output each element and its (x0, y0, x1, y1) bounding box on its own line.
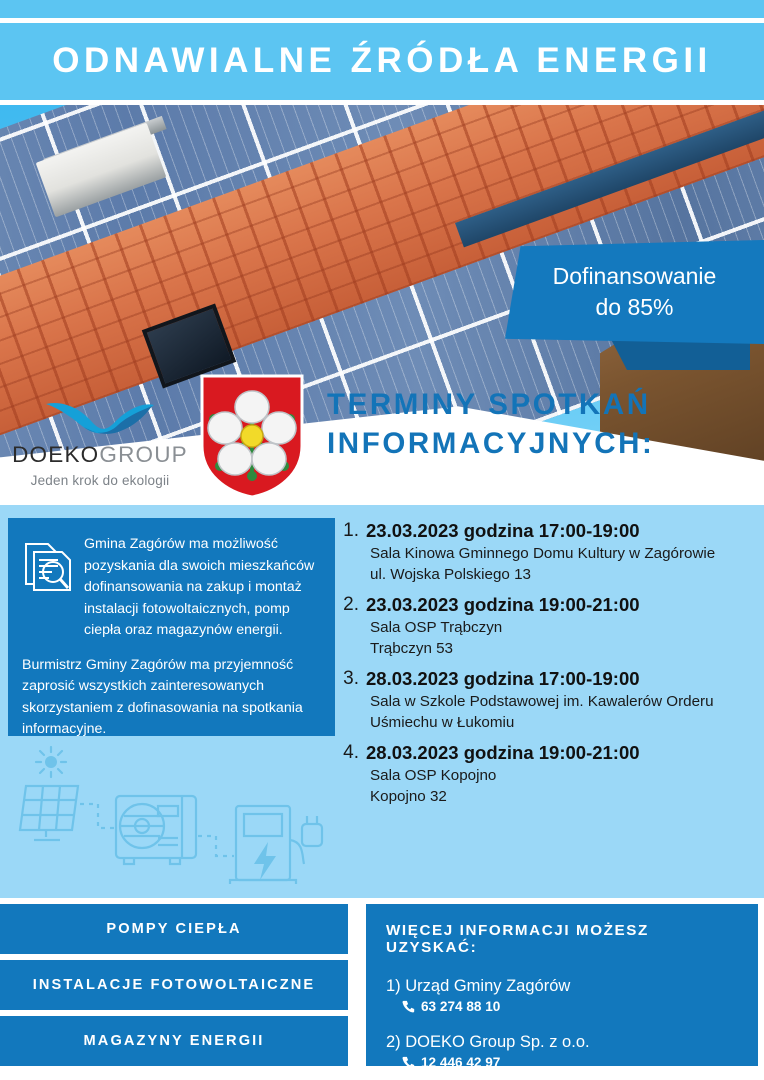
phone-icon (402, 1000, 415, 1013)
section-heading-line-1: TERMINY SPOTKAŃ (327, 385, 764, 424)
contact-box: WIĘCEJ INFORMACJI MOŻESZ UZYSKAĆ: 1) Urz… (366, 904, 758, 1066)
ribbon-line-2: do 85% (595, 292, 673, 323)
meeting-datetime: 23.03.2023 godzina 17:00-19:00 (366, 518, 764, 543)
top-divider-line (0, 18, 764, 23)
service-bar-energy-storage: MAGAZYNY ENERGII (0, 1016, 348, 1066)
meeting-address: ul. Wojska Polskiego 13 (366, 564, 764, 585)
ev-charger-icon (230, 806, 322, 884)
info-paragraph-1: Gmina Zagórów ma możliwość pozyskania dl… (84, 534, 319, 642)
contact-phone-1[interactable]: 63 274 88 10 (402, 999, 738, 1014)
page-title: ODNAWIALNE ŹRÓDŁA ENERGII (0, 41, 764, 81)
meeting-venue: Sala OSP Trąbczyn (366, 617, 764, 638)
contact-org-2: 2) DOEKO Group Sp. z o.o. (386, 1031, 738, 1053)
meeting-number: 3. (340, 666, 366, 733)
meeting-address: Kopojno 32 (366, 786, 764, 807)
service-bar-heat-pumps: POMPY CIEPŁA (0, 904, 348, 954)
funding-ribbon: Dofinansowanie do 85% (505, 240, 764, 344)
document-search-icon (22, 540, 72, 596)
list-item: 4. 28.03.2023 godzina 19:00-21:00 Sala O… (340, 740, 764, 807)
doeko-logo: DOEKOGROUP Jeden krok do ekologii (10, 400, 190, 488)
eco-technology-icons (6, 744, 336, 884)
service-bar-photovoltaics: INSTALACJE FOTOWOLTAICZNE (0, 960, 348, 1010)
list-item: 3. 28.03.2023 godzina 17:00-19:00 Sala w… (340, 666, 764, 733)
contact-phone-1-number: 63 274 88 10 (421, 999, 500, 1014)
list-item: 1. 23.03.2023 godzina 17:00-19:00 Sala K… (340, 518, 764, 585)
footer-section: POMPY CIEPŁA INSTALACJE FOTOWOLTAICZNE M… (0, 898, 764, 1080)
logo-tagline: Jeden krok do ekologii (10, 473, 190, 488)
title-band: ODNAWIALNE ŹRÓDŁA ENERGII (0, 0, 764, 105)
list-item: 2. 23.03.2023 godzina 19:00-21:00 Sala O… (340, 592, 764, 659)
meeting-number: 1. (340, 518, 366, 585)
contact-phone-2-number: 12 446 42 97 (421, 1055, 500, 1070)
meeting-venue: Sala OSP Kopojno (366, 765, 764, 786)
meeting-number: 4. (340, 740, 366, 807)
solar-panel-icon (20, 786, 78, 840)
meeting-datetime: 28.03.2023 godzina 17:00-19:00 (366, 666, 764, 691)
meetings-list: 1. 23.03.2023 godzina 17:00-19:00 Sala K… (340, 518, 764, 814)
heat-pump-icon (116, 796, 196, 864)
meeting-datetime: 23.03.2023 godzina 19:00-21:00 (366, 592, 764, 617)
poster: ODNAWIALNE ŹRÓDŁA ENERGII Dofinansowanie… (0, 0, 764, 1080)
meeting-venue: Sala Kinowa Gminnego Domu Kultury w Zagó… (366, 543, 764, 564)
info-paragraph-2: Burmistrz Gminy Zagórów ma przyjemność z… (22, 655, 319, 741)
section-heading: TERMINY SPOTKAŃ INFORMACYJNYCH: (327, 385, 764, 463)
section-heading-line-2: INFORMACYJNYCH: (327, 424, 764, 463)
coat-of-arms (200, 374, 304, 499)
logo-name-grey: GROUP (99, 442, 188, 467)
info-box: Gmina Zagórów ma możliwość pozyskania dl… (8, 518, 335, 736)
meeting-venue: Sala w Szkole Podstawowej im. Kawalerów … (366, 691, 764, 712)
contact-phone-2[interactable]: 12 446 42 97 (402, 1055, 738, 1070)
meeting-number: 2. (340, 592, 366, 659)
doeko-swoosh-icon (44, 400, 156, 434)
contact-heading: WIĘCEJ INFORMACJI MOŻESZ UZYSKAĆ: (386, 922, 738, 956)
phone-icon (402, 1056, 415, 1069)
sun-icon (36, 747, 66, 777)
ribbon-line-1: Dofinansowanie (553, 261, 717, 292)
meeting-address: Trąbczyn 53 (366, 638, 764, 659)
contact-org-1: 1) Urząd Gminy Zagórów (386, 975, 738, 997)
meeting-address: Uśmiechu w Łukomiu (366, 712, 764, 733)
doeko-wordmark: DOEKOGROUP (10, 442, 190, 468)
meeting-datetime: 28.03.2023 godzina 19:00-21:00 (366, 740, 764, 765)
logo-name-dark: DOEKO (12, 442, 99, 467)
